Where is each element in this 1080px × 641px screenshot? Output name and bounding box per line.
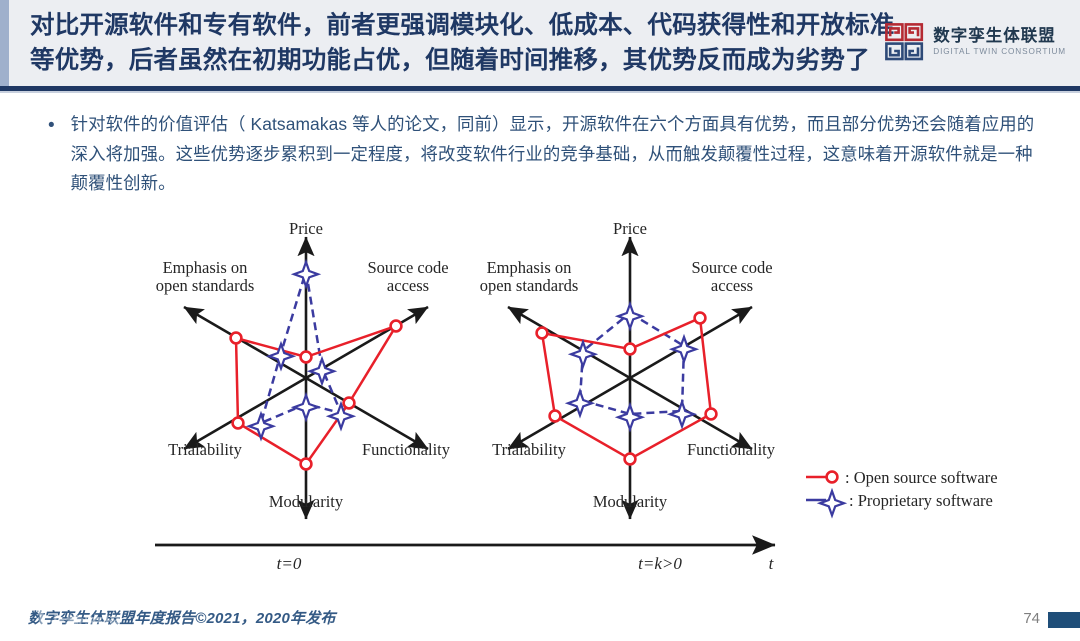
logo-wordmark: 数字孪生体联盟 DIGITAL TWIN CONSORTIUM [933, 28, 1066, 56]
radar-panel-tk: Price Source code access Functionality M… [480, 219, 776, 519]
axis-label-open-standards-right-l1: Emphasis on [487, 258, 572, 277]
page-number-marker [1048, 612, 1080, 628]
page-number: 74 [1023, 610, 1040, 627]
time-axis-label: t [769, 554, 775, 573]
dtc-logo-mark-icon [884, 22, 926, 62]
header-left-accent-bar [0, 0, 9, 86]
time-axis-tick-t0: t=0 [277, 554, 302, 573]
legend-marker-open-source-icon [827, 472, 838, 483]
legend-label-open-source: : Open source software [845, 468, 998, 487]
logo-name-cn: 数字孪生体联盟 [933, 28, 1066, 45]
body-bullet-block: • 针对软件的价值评估（ Katsamakas 等人的论文，同前）显示，开源软件… [48, 110, 1048, 199]
time-axis-tick-tk: t=k>0 [638, 554, 682, 573]
logo-name-en: DIGITAL TWIN CONSORTIUM [933, 48, 1066, 56]
axis-label-functionality-left: Functionality [362, 440, 451, 459]
axis-label-modularity-left: Modularity [269, 492, 344, 511]
axis-label-price-right: Price [613, 219, 647, 238]
bullet-marker: • [48, 110, 55, 199]
markers-proprietary-right [568, 304, 696, 429]
markers-proprietary-left [249, 262, 353, 438]
radar-chart-figure: Price Source code access Functionality M… [0, 200, 1080, 590]
axis-label-trialability-left: Trialability [168, 440, 242, 459]
footer-note: 数字孪生体联盟年度报告©2021，2020年发布 [28, 607, 336, 628]
axis-label-source-code-right-l1: Source code [691, 258, 772, 277]
axis-label-source-code-left-l2: access [387, 276, 429, 295]
legend-marker-proprietary-icon [820, 491, 844, 515]
axis-label-price-left: Price [289, 219, 323, 238]
axis-label-source-code-left-l1: Source code [367, 258, 448, 277]
axis-label-source-code-right-l2: access [711, 276, 753, 295]
axis-label-open-standards-left-l1: Emphasis on [163, 258, 248, 277]
radar-panel-t0: Price Source code access Functionality M… [156, 219, 451, 519]
axis-label-functionality-right: Functionality [687, 440, 776, 459]
axis-label-open-standards-left-l2: open standards [156, 276, 255, 295]
axis-label-open-standards-right-l2: open standards [480, 276, 579, 295]
axis-label-trialability-right: Trialability [492, 440, 566, 459]
slide-header-band: 对比开源软件和专有软件，前者更强调模块化、低成本、代码获得性和开放标准等优势，后… [0, 0, 1080, 86]
axis-label-modularity-right: Modularity [593, 492, 668, 511]
body-paragraph: 针对软件的价值评估（ Katsamakas 等人的论文，同前）显示，开源软件在六… [71, 110, 1048, 199]
header-divider-rule-light [0, 91, 1080, 93]
radar-figure-svg: Price Source code access Functionality M… [0, 200, 1080, 590]
page-title: 对比开源软件和专有软件，前者更强调模块化、低成本、代码获得性和开放标准等优势，后… [30, 8, 910, 78]
chart-legend: : Open source software : Proprietary sof… [806, 468, 998, 515]
legend-label-proprietary: : Proprietary software [849, 491, 993, 510]
time-axis: t=0 t=k>0 t [155, 545, 775, 573]
organization-logo: 数字孪生体联盟 DIGITAL TWIN CONSORTIUM [884, 22, 1066, 62]
